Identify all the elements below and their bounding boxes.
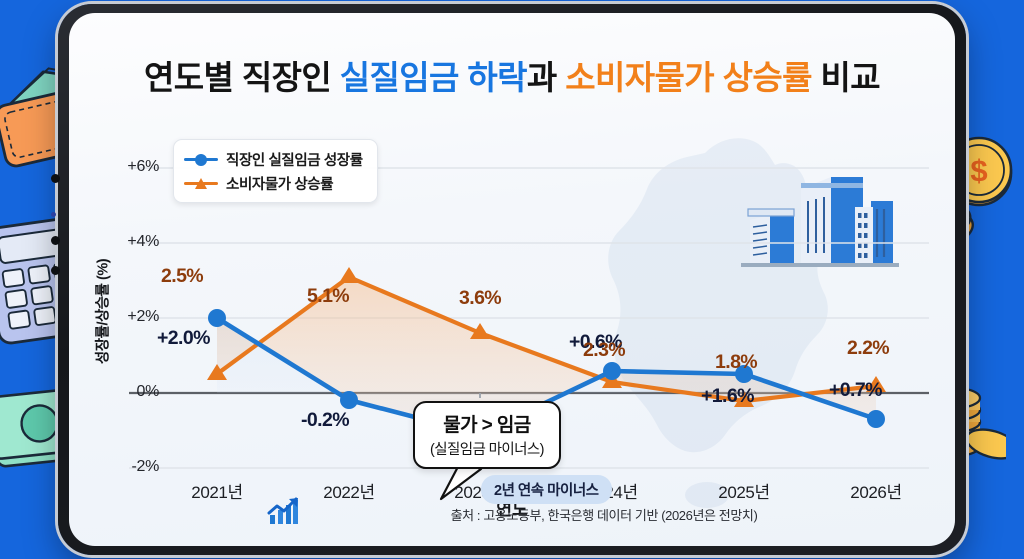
cpi-value-2022: 5.1% — [307, 285, 349, 308]
cpi-value-2023: 3.6% — [459, 287, 501, 310]
cpi-value-2026: 2.2% — [847, 337, 889, 360]
cpi-value-2024: 2.3% — [583, 339, 625, 362]
title-part-1: 연도별 직장인 — [144, 59, 340, 96]
wage-value-2025: +1.6% — [701, 385, 754, 408]
callout-box: 물가 > 임금 (실질임금 마이너스) — [413, 401, 561, 469]
cpi-value-2021: 2.5% — [161, 265, 203, 288]
chart-growth-icon — [267, 497, 301, 532]
y-tick-neg2: -2% — [99, 458, 159, 476]
title-part-3: 비교 — [812, 59, 880, 96]
legend-marker-circle-icon — [184, 152, 218, 166]
title-highlight-wage: 실질임금 하락 — [340, 59, 527, 96]
legend-label-wage: 직장인 실질임금 성장률 — [226, 149, 363, 170]
tablet-screen: 연도별 직장인 실질임금 하락과 소비자물가 상승률 비교 — [69, 13, 955, 546]
tablet-frame: 연도별 직장인 실질임금 하락과 소비자물가 상승률 비교 — [58, 4, 966, 555]
chart-container: +6% +4% +2% 0% -2% 성장률/상승률 (%) 2021년 202… — [69, 123, 955, 523]
svg-text:$: $ — [970, 153, 987, 188]
tablet-button-icon — [51, 266, 60, 275]
y-tick-6: +6% — [99, 158, 159, 176]
y-axis-label: 성장률/상승률 (%) — [92, 217, 113, 407]
wage-value-2021: +2.0% — [157, 327, 210, 350]
chart-legend: 직장인 실질임금 성장률 소비자물가 상승률 — [173, 139, 378, 203]
wage-value-2026: +0.7% — [829, 379, 882, 402]
tablet-button-icon — [51, 236, 60, 245]
legend-marker-triangle-icon — [184, 176, 218, 190]
cpi-value-2025: 1.8% — [715, 351, 757, 374]
callout-line-1: 물가 > 임금 — [430, 410, 544, 437]
footer: 출처 : 고용노동부, 한국은행 데이터 기반 (2026년은 전망치) — [69, 497, 955, 532]
tablet-sensor-icon — [51, 212, 56, 217]
callout-line-2: (실질임금 마이너스) — [430, 438, 544, 459]
legend-item-wage[interactable]: 직장인 실질임금 성장률 — [184, 147, 363, 171]
legend-label-cpi: 소비자물가 상승률 — [226, 173, 333, 194]
page-title: 연도별 직장인 실질임금 하락과 소비자물가 상승률 비교 — [69, 51, 955, 99]
source-note: 출처 : 고용노동부, 한국은행 데이터 기반 (2026년은 전망치) — [451, 505, 758, 524]
title-highlight-cpi: 소비자물가 상승률 — [565, 59, 812, 96]
korea-map-watermark — [608, 138, 828, 508]
title-part-2: 과 — [527, 59, 565, 96]
wage-value-2022: -0.2% — [301, 409, 349, 432]
tablet-button-icon — [51, 174, 60, 183]
legend-item-cpi[interactable]: 소비자물가 상승률 — [184, 171, 363, 195]
